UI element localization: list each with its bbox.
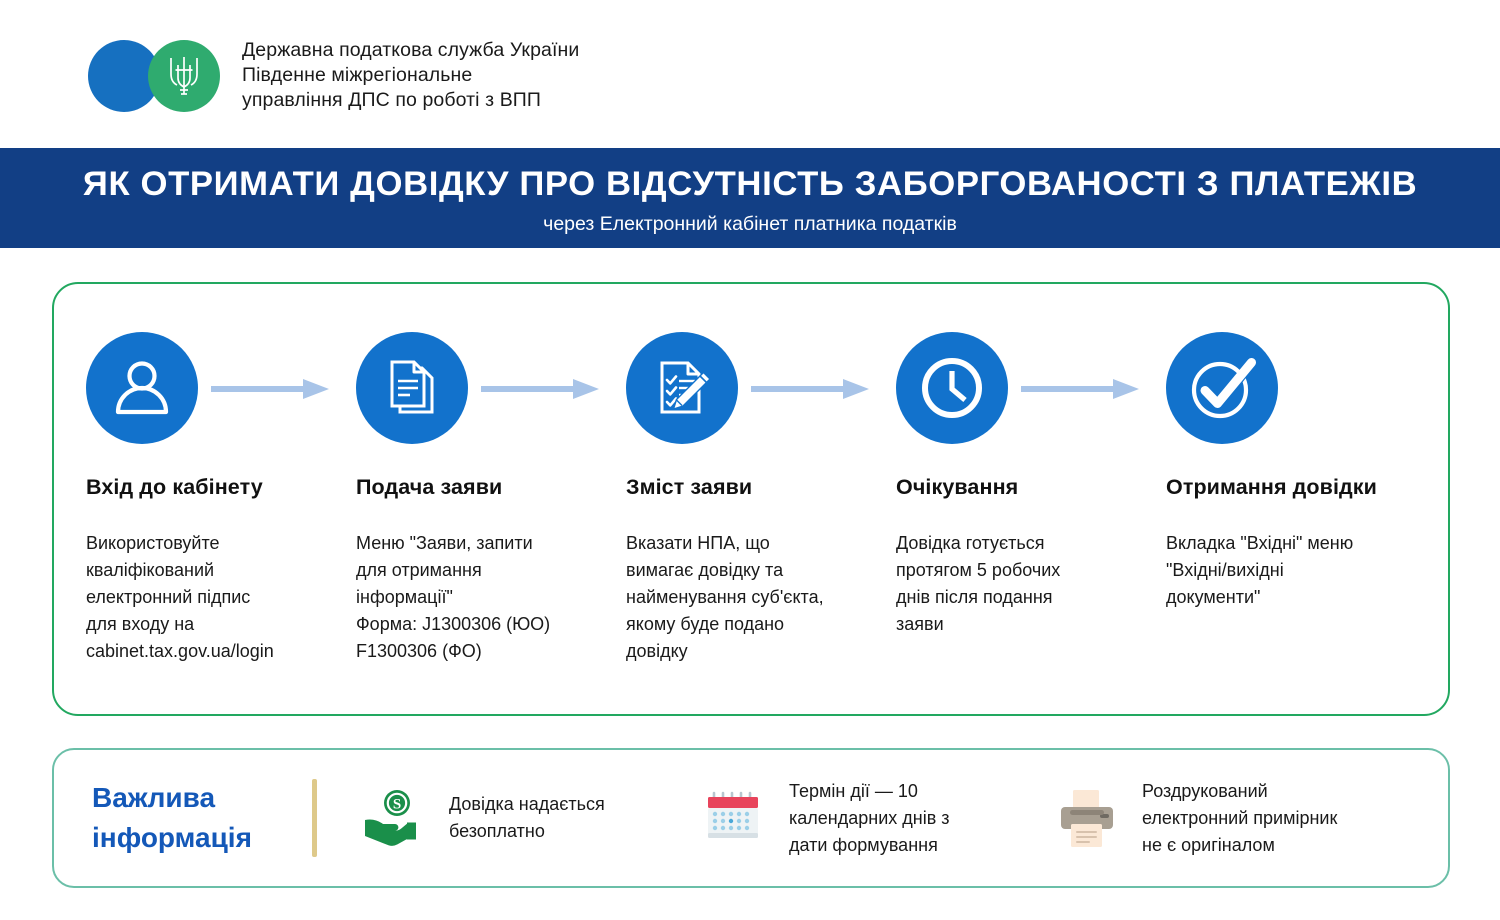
step-3-title: Зміст заяви (626, 474, 896, 500)
step-5-title: Отримання довідки (1166, 474, 1436, 500)
calendar-icon-wrap (697, 781, 771, 855)
checklist-pencil-icon (649, 355, 715, 421)
money-hand-icon-wrap: S (357, 781, 431, 855)
steps-row: Вхід до кабінету Використовуйте кваліфік… (54, 284, 1448, 714)
infographic-page: Державна податкова служба України Півден… (0, 0, 1500, 920)
step-3-icon-badge (626, 332, 738, 444)
check-circle-icon (1184, 350, 1260, 426)
page-title: ЯК ОТРИМАТИ ДОВІДКУ ПРО ВІДСУТНІСТЬ ЗАБО… (83, 164, 1417, 204)
arrow-right-icon (211, 378, 333, 400)
trident-icon (167, 54, 201, 98)
step-3-body: Вказати НПА, що вимагає довідку та найме… (626, 530, 861, 665)
printer-icon-wrap (1050, 781, 1124, 855)
money-hand-icon: S (363, 787, 425, 849)
arrow-right-icon (751, 378, 873, 400)
printer-icon (1056, 788, 1118, 848)
arrow-right-icon (1021, 378, 1143, 400)
step-2-body: Меню "Заяви, запити для отримання інформ… (356, 530, 591, 665)
info-text-free-of-charge: Довідка надається безоплатно (449, 791, 605, 845)
step-4-title: Очікування (896, 474, 1166, 500)
info-item-printed-copy: Роздрукований електронний примірник не є… (1050, 778, 1390, 859)
clock-icon (916, 352, 988, 424)
step-5: Отримання довідки Вкладка "Вхідні" меню … (1166, 332, 1436, 714)
step-1-icon-badge (86, 332, 198, 444)
step-5-body: Вкладка "Вхідні" меню "Вхідні/вихідні до… (1166, 530, 1401, 611)
info-text-validity-period: Термін дії — 10 календарних днів з дати … (789, 778, 950, 859)
logo-header: Державна податкова служба України Півден… (88, 38, 579, 113)
steps-card: Вхід до кабінету Використовуйте кваліфік… (52, 282, 1450, 716)
logo-marks (88, 40, 220, 112)
step-4-body: Довідка готується протягом 5 робочих дні… (896, 530, 1131, 638)
page-subtitle: через Електронний кабінет платника подат… (543, 211, 957, 237)
important-information-heading: Важлива інформація (92, 778, 302, 858)
vertical-divider (312, 779, 317, 857)
step-5-icon-badge (1166, 332, 1278, 444)
documents-icon (380, 356, 444, 420)
info-item-validity-period: Термін дії — 10 календарних днів з дати … (697, 778, 1042, 859)
important-information-card: Важлива інформація S Довідка надається б… (52, 748, 1450, 888)
info-text-printed-copy: Роздрукований електронний примірник не є… (1142, 778, 1337, 859)
organisation-name: Державна податкова служба України Півден… (242, 38, 579, 113)
step-2-title: Подача заяви (356, 474, 626, 500)
person-icon (109, 355, 175, 421)
logo-green-circle (148, 40, 220, 112)
step-4-icon-badge (896, 332, 1008, 444)
step-1-body: Використовуйте кваліфікований електронни… (86, 530, 321, 665)
info-item-free-of-charge: S Довідка надається безоплатно (357, 781, 687, 855)
svg-text:S: S (393, 797, 401, 813)
title-banner: ЯК ОТРИМАТИ ДОВІДКУ ПРО ВІДСУТНІСТЬ ЗАБО… (0, 148, 1500, 248)
step-1-title: Вхід до кабінету (86, 474, 356, 500)
arrow-right-icon (481, 378, 603, 400)
calendar-icon (705, 789, 763, 847)
step-2-icon-badge (356, 332, 468, 444)
